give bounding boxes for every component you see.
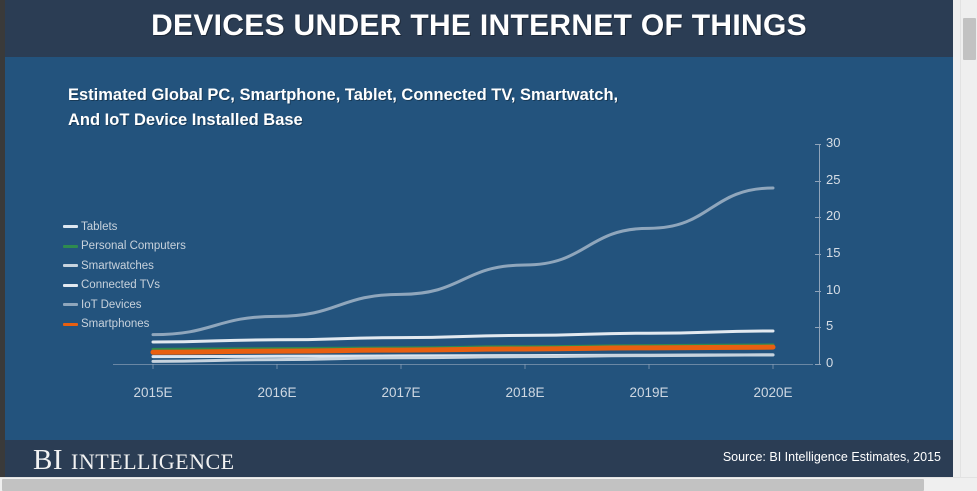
legend-swatch-icon (63, 264, 78, 267)
legend-swatch-icon (63, 245, 78, 248)
chart-series-svg (113, 144, 813, 380)
slide-footer-band: BIINTELLIGENCE Source: BI Intelligence E… (5, 440, 953, 477)
slide-body: Estimated Global PC, Smartphone, Tablet,… (5, 57, 953, 440)
x-axis-tick-label: 2020E (753, 385, 792, 400)
chart-y-axis: 051015202530 (813, 144, 873, 380)
legend-item-label: Tablets (81, 221, 117, 233)
legend-swatch-icon (63, 225, 78, 228)
chart-source-note: Source: BI Intelligence Estimates, 2015 (723, 450, 941, 464)
scrollbar-vertical[interactable] (960, 0, 977, 477)
y-axis-tick-mark (815, 364, 821, 365)
y-axis-tick-mark (815, 291, 821, 292)
x-axis-tick-label: 2019E (629, 385, 668, 400)
series-line-iot-devices (153, 188, 773, 335)
chart-plot-area (113, 144, 813, 380)
legend-swatch-icon (63, 303, 78, 306)
x-axis-tick-label: 2016E (257, 385, 296, 400)
legend-swatch-icon (63, 284, 78, 287)
y-axis-tick-label: 25 (826, 172, 840, 187)
y-axis-tick-label: 10 (826, 282, 840, 297)
y-axis-tick-mark (815, 327, 821, 328)
chart-subtitle-line-1: Estimated Global PC, Smartphone, Tablet,… (68, 83, 858, 108)
x-axis-tick-label: 2017E (381, 385, 420, 400)
y-axis-tick-mark (815, 181, 821, 182)
chart-subtitle-line-2: And IoT Device Installed Base (68, 108, 858, 133)
y-axis-tick-label: 0 (826, 355, 833, 370)
scrollbar-horizontal[interactable] (0, 477, 977, 491)
logo-text-bi: BI (33, 444, 63, 476)
x-axis-tick-label: 2018E (505, 385, 544, 400)
bi-intelligence-logo: BIINTELLIGENCE (33, 444, 235, 477)
scrollbar-vertical-thumb[interactable] (963, 18, 976, 60)
y-axis-tick-mark (815, 254, 821, 255)
legend-swatch-icon (63, 323, 78, 326)
page-title: DEVICES UNDER THE INTERNET OF THINGS (5, 9, 953, 43)
chart-x-axis: 2015E2016E2017E2018E2019E2020E (113, 385, 813, 407)
y-axis-tick-label: 20 (826, 208, 840, 223)
y-axis-tick-label: 15 (826, 245, 840, 260)
y-axis-tick-mark (815, 144, 821, 145)
logo-text-intelligence: NTELLIGENCE (79, 449, 235, 474)
y-axis-tick-label: 5 (826, 318, 833, 333)
document-viewer: DEVICES UNDER THE INTERNET OF THINGS Est… (0, 0, 977, 491)
y-axis-tick-mark (815, 217, 821, 218)
series-line-connected-tvs (153, 331, 773, 342)
line-chart: TabletsPersonal ComputersSmartwatchesCon… (5, 137, 953, 427)
logo-text-intelligence-cap: I (71, 449, 79, 474)
slide-canvas: DEVICES UNDER THE INTERNET OF THINGS Est… (5, 0, 953, 477)
scrollbar-horizontal-thumb[interactable] (2, 479, 924, 491)
chart-subtitle: Estimated Global PC, Smartphone, Tablet,… (68, 83, 858, 133)
x-axis-tick-label: 2015E (133, 385, 172, 400)
slide-header-band: DEVICES UNDER THE INTERNET OF THINGS (5, 0, 953, 57)
y-axis-tick-label: 30 (826, 135, 840, 150)
